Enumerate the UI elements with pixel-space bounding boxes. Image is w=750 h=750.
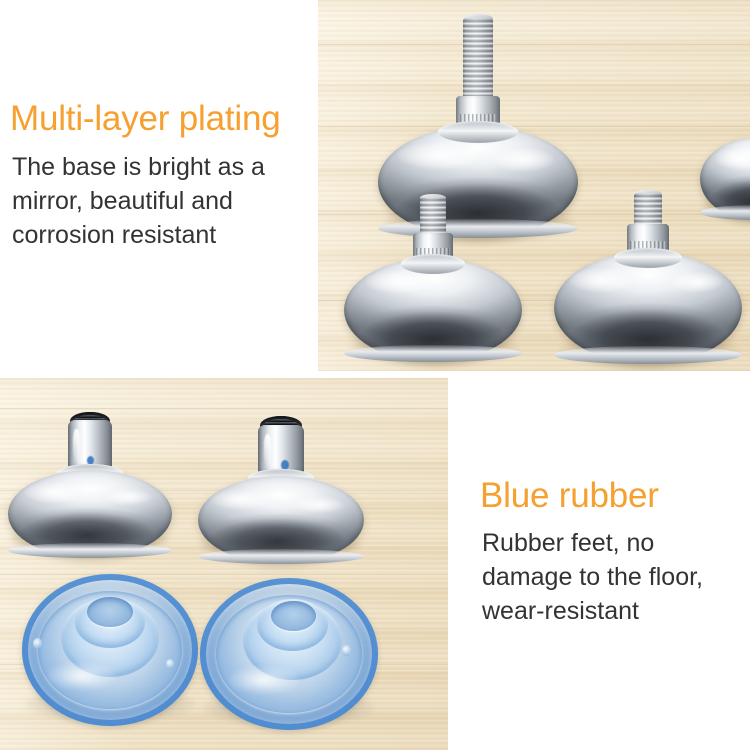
specular-highlight-right <box>106 489 152 505</box>
conical-skirt <box>198 476 364 564</box>
gloss-highlight <box>47 662 117 689</box>
base-top-ring <box>614 248 682 268</box>
page-title: Multi-layer plating <box>10 100 280 138</box>
skirt-rim <box>8 543 172 558</box>
specular-highlight <box>569 268 633 293</box>
description-line: mirror, beautiful and <box>12 184 312 218</box>
rubber-center-hole <box>271 601 316 631</box>
base-rim <box>554 346 742 364</box>
foot-base <box>344 258 522 362</box>
threaded-stud <box>634 193 662 227</box>
specular-highlight <box>211 490 267 509</box>
conical-skirt <box>8 470 172 558</box>
blue-rubber-cap-left <box>22 574 198 726</box>
wood-seam <box>0 408 448 410</box>
chrome-glide-feet-photo <box>318 0 750 371</box>
foot-base <box>554 252 742 364</box>
description-line: Rubber feet, no <box>482 526 750 560</box>
description-line: The base is bright as a <box>12 150 312 184</box>
base-top-ring <box>438 121 518 143</box>
base-rim <box>344 345 522 362</box>
description-line: damage to the floor, <box>482 560 750 594</box>
skirt-rim <box>198 549 364 564</box>
product-feature-collage: Multi-layer plating The base is bright a… <box>0 0 750 750</box>
specular-highlight-right <box>494 148 554 170</box>
specular-highlight-right <box>294 497 344 513</box>
rubber-side-nub <box>33 638 42 649</box>
multi-layer-plating-description: The base is bright as a mirror, beautifu… <box>12 150 312 252</box>
specular-highlight <box>24 482 83 503</box>
threaded-stud <box>463 18 493 98</box>
description-line: corrosion resistant <box>12 218 312 252</box>
multi-layer-plating-callout: Multi-layer plating The base is bright a… <box>0 0 318 371</box>
threaded-stud <box>420 197 446 235</box>
glide-foot-front <box>344 194 522 371</box>
chrome-base-right <box>198 416 364 566</box>
gloss-highlight <box>228 666 299 693</box>
section-title: Blue rubber <box>480 477 659 515</box>
base-top-ring <box>401 254 465 274</box>
chrome-bases-and-rubber-pads-photo <box>0 378 448 750</box>
blue-rubber-callout: Blue rubber Rubber feet, no damage to th… <box>448 378 750 750</box>
blue-rubber-cap-right <box>200 578 378 730</box>
specular-highlight <box>398 142 478 169</box>
description-line: wear-resistant <box>482 594 750 628</box>
glide-foot-right <box>554 190 742 371</box>
rubber-center-hole <box>87 597 133 627</box>
blue-rubber-description: Rubber feet, no damage to the floor, wea… <box>482 526 750 628</box>
chrome-base-left <box>8 412 172 560</box>
